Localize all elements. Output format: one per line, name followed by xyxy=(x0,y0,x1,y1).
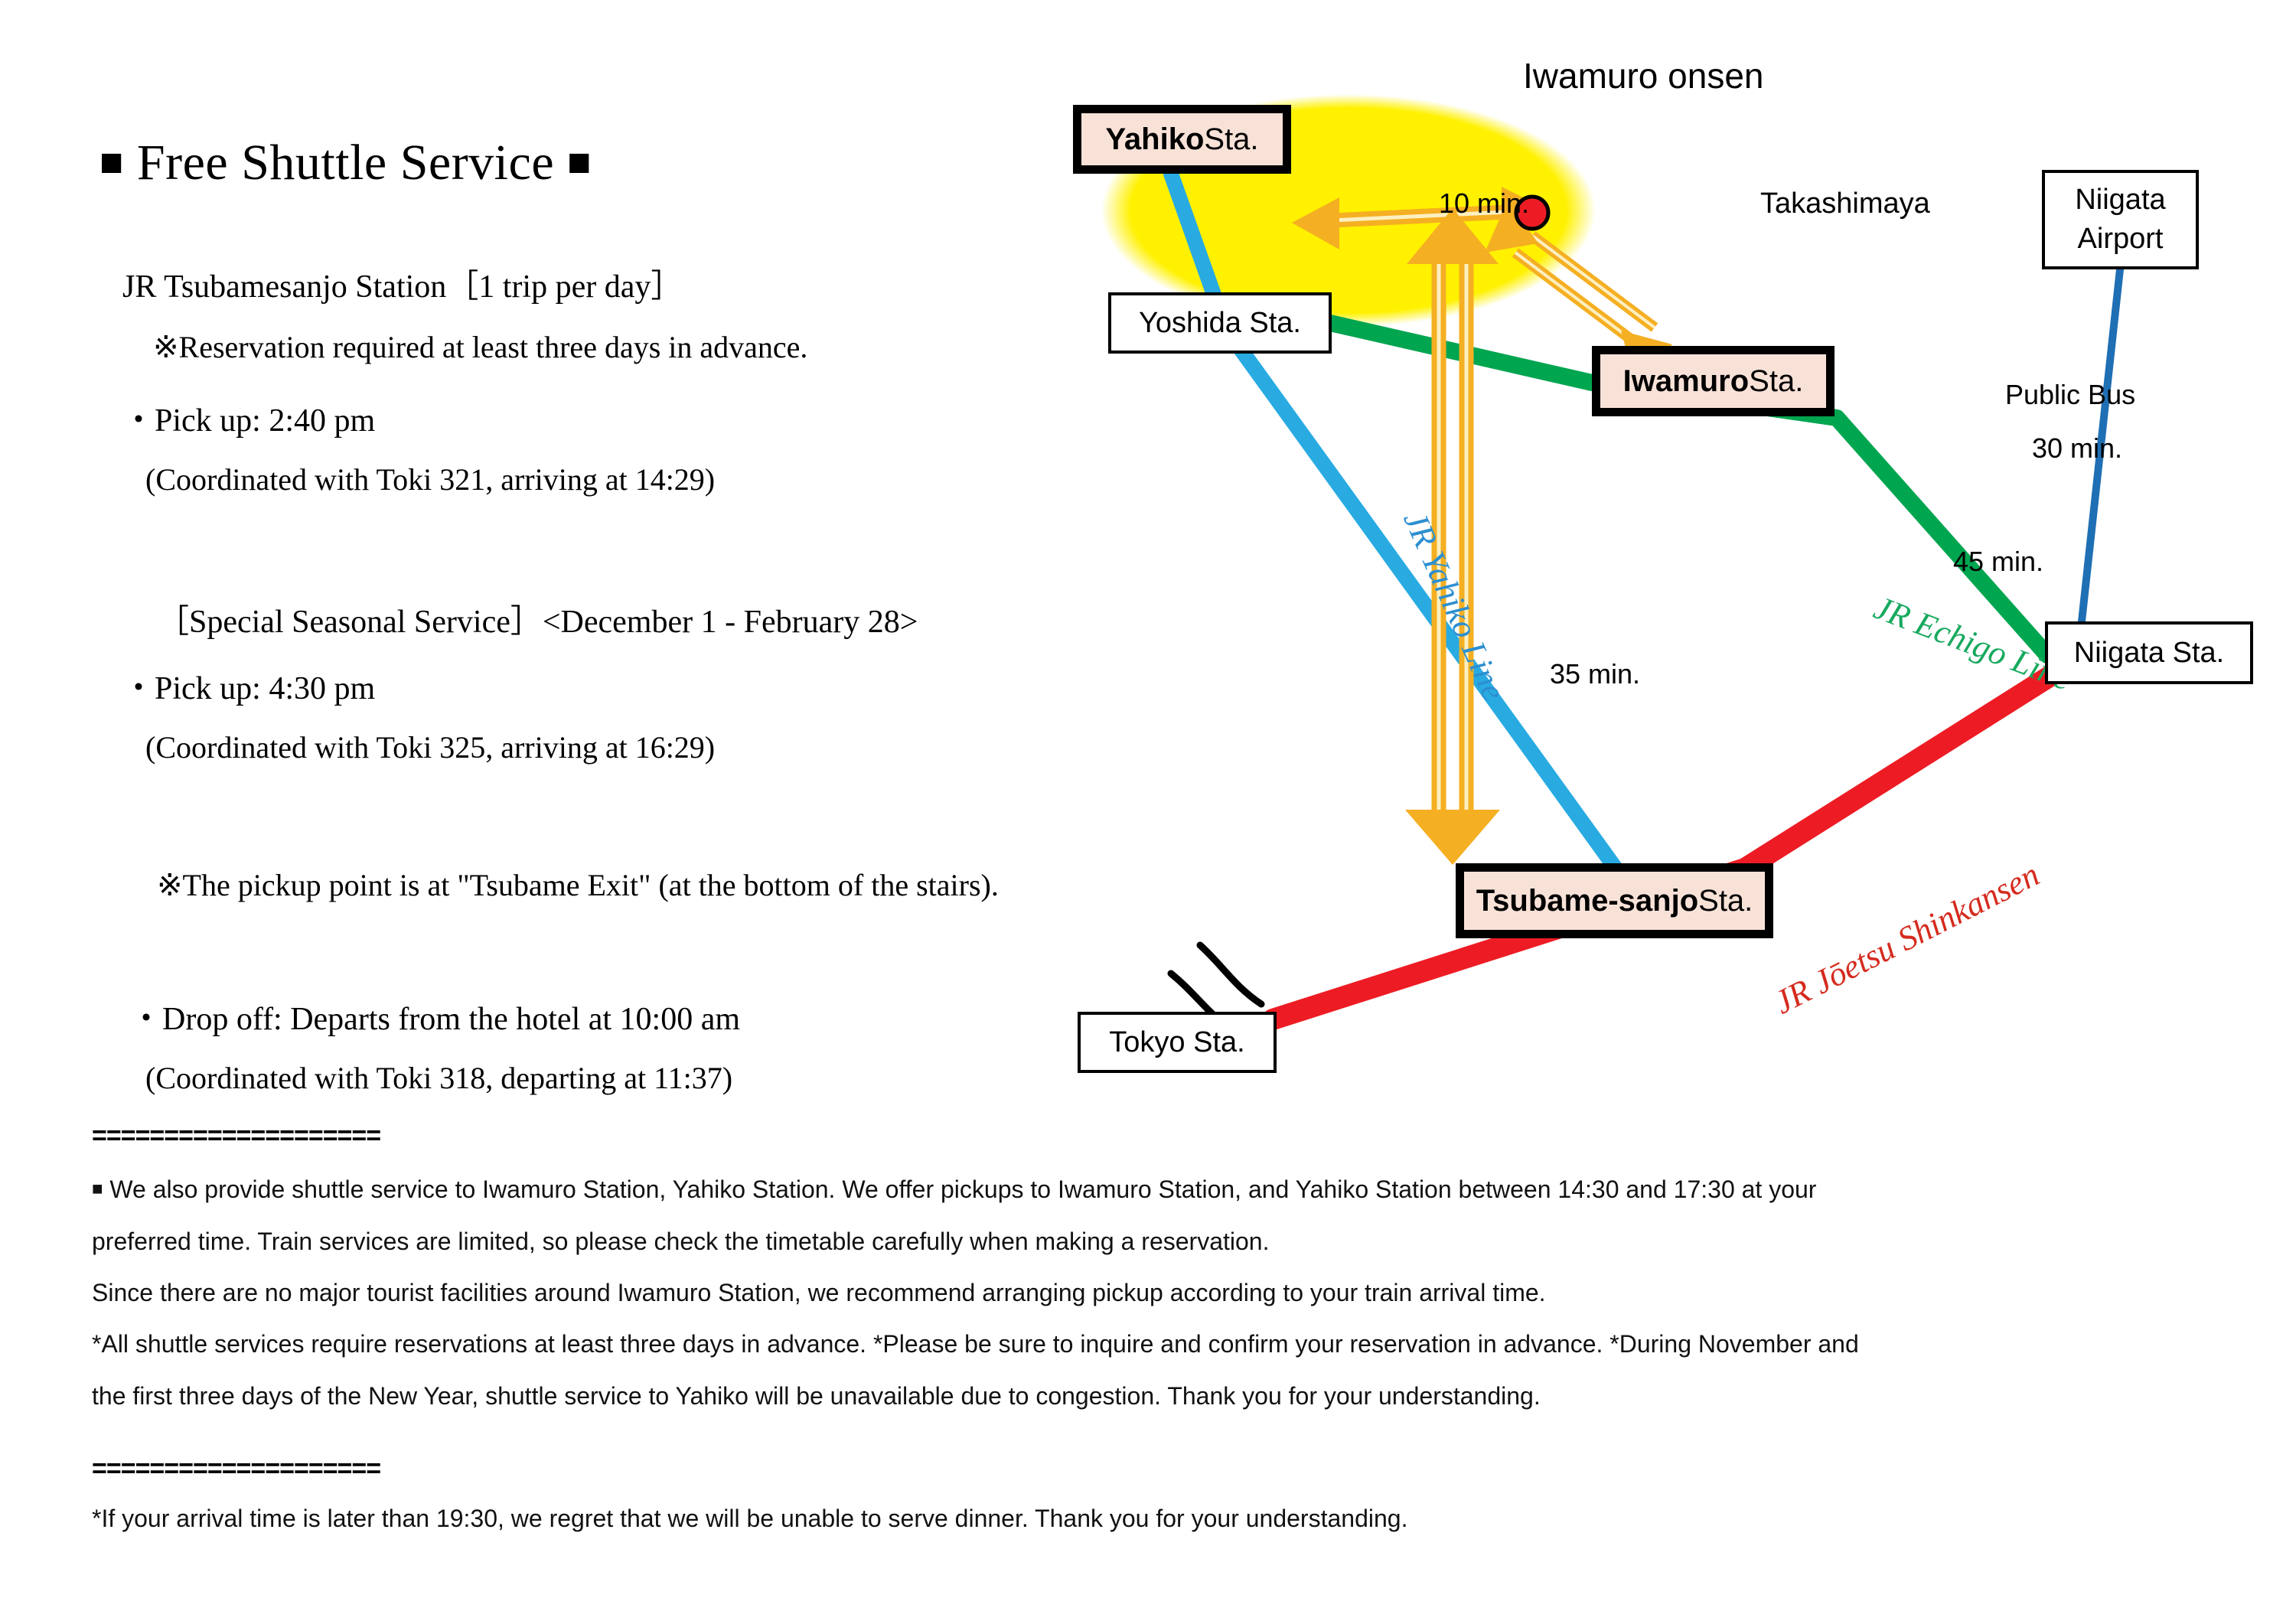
duration-yahiko-label: 10 min. xyxy=(1439,188,1529,220)
pickup-2-train-note: (Coordinated with Toki 325, arriving at … xyxy=(145,729,715,765)
takashimaya-label: Takashimaya xyxy=(1760,188,1930,220)
note-line-a1: ■ We also provide shuttle service to Iwa… xyxy=(92,1177,1816,1202)
onsen-area-label: Iwamuro onsen xyxy=(1523,55,1764,96)
airport-mode-label: Public Bus xyxy=(2005,379,2135,411)
note-line-a2: preferred time. Train services are limit… xyxy=(92,1229,1269,1254)
station-box-niigata[interactable]: Niigata Sta. xyxy=(2045,621,2253,684)
duration-tsubame-label: 35 min. xyxy=(1550,658,1640,690)
title-square-left-icon: ■ xyxy=(99,141,124,184)
pickup-1-train-note: (Coordinated with Toki 321, arriving at … xyxy=(145,461,715,497)
title-square-right-icon: ■ xyxy=(567,141,592,184)
note-line-c1: *All shuttle services require reservatio… xyxy=(92,1332,1859,1356)
pickup-time-2: ・Pick up: 4:30 pm xyxy=(122,662,375,709)
station-box-niigata-airport[interactable]: Niigata Airport xyxy=(2042,170,2199,269)
pickup-time-1: ・Pick up: 2:40 pm xyxy=(122,394,375,441)
seasonal-service-heading: ［Special Seasonal Service］<December 1 - … xyxy=(157,595,918,642)
route-map: Iwamuro onsen Takashimaya 10 min. 35 min… xyxy=(980,0,2296,1117)
note-line-c2: the first three days of the New Year, sh… xyxy=(92,1384,1541,1408)
station-box-tokyo[interactable]: Tokyo Sta. xyxy=(1078,1012,1277,1073)
jr-joetsu-shinkansen-line xyxy=(1273,673,2054,1019)
station-box-tokyo-label: Tokyo Sta. xyxy=(1109,1026,1244,1059)
station-box-yoshida[interactable]: Yoshida Sta. xyxy=(1108,292,1332,354)
station-heading: JR Tsubamesanjo Station［1 trip per day］ xyxy=(122,260,683,307)
divider-equals-2: ==================== xyxy=(92,1454,380,1484)
airport-label-line1: Niigata xyxy=(2075,181,2165,220)
duration-echigo-label: 45 min. xyxy=(1953,546,2043,578)
station-box-tsubame-sanjo[interactable]: Tsubame-sanjo Sta. xyxy=(1456,863,1773,938)
left-text-column: ■ Free Shuttle Service ■ JR Tsubamesanjo… xyxy=(0,0,995,1110)
station-box-tsubame-bold: Tsubame-sanjo xyxy=(1476,884,1698,918)
title-text: Free Shuttle Service xyxy=(137,135,554,191)
page-title: ■ Free Shuttle Service ■ xyxy=(99,134,592,192)
station-box-iwamuro-bold: Iwamuro xyxy=(1623,364,1749,399)
station-box-niigata-label: Niigata Sta. xyxy=(2074,637,2224,670)
divider-equals-1: ==================== xyxy=(92,1121,380,1151)
station-box-iwamuro-rest: Sta. xyxy=(1749,364,1803,399)
note-line-a1-text: We also provide shuttle service to Iwamu… xyxy=(109,1176,1816,1203)
station-box-yahiko-bold: Yahiko xyxy=(1105,122,1204,157)
station-box-tsubame-rest: Sta. xyxy=(1698,884,1753,918)
note-line-b1: Since there are no major tourist facilit… xyxy=(92,1280,1546,1305)
station-box-yahiko-rest: Sta. xyxy=(1204,122,1258,157)
airport-label-line2: Airport xyxy=(2078,220,2164,259)
dropoff-train-note: (Coordinated with Toki 318, departing at… xyxy=(145,1060,732,1096)
station-box-yoshida-label: Yoshida Sta. xyxy=(1139,307,1301,340)
note-line-d1: *If your arrival time is later than 19:3… xyxy=(92,1506,1407,1531)
station-box-iwamuro[interactable]: Iwamuro Sta. xyxy=(1592,346,1835,416)
station-box-yahiko[interactable]: Yahiko Sta. xyxy=(1073,105,1291,174)
reservation-note: ※Reservation required at least three day… xyxy=(153,329,807,365)
note-square-bullet-icon: ■ xyxy=(92,1179,103,1199)
airport-duration-label: 30 min. xyxy=(2032,432,2122,465)
pickup-point-note: ※The pickup point is at "Tsubame Exit" (… xyxy=(157,867,999,903)
line-break-symbol xyxy=(1200,945,1261,1004)
dropoff-time: ・Drop off: Departs from the hotel at 10:… xyxy=(130,993,740,1039)
